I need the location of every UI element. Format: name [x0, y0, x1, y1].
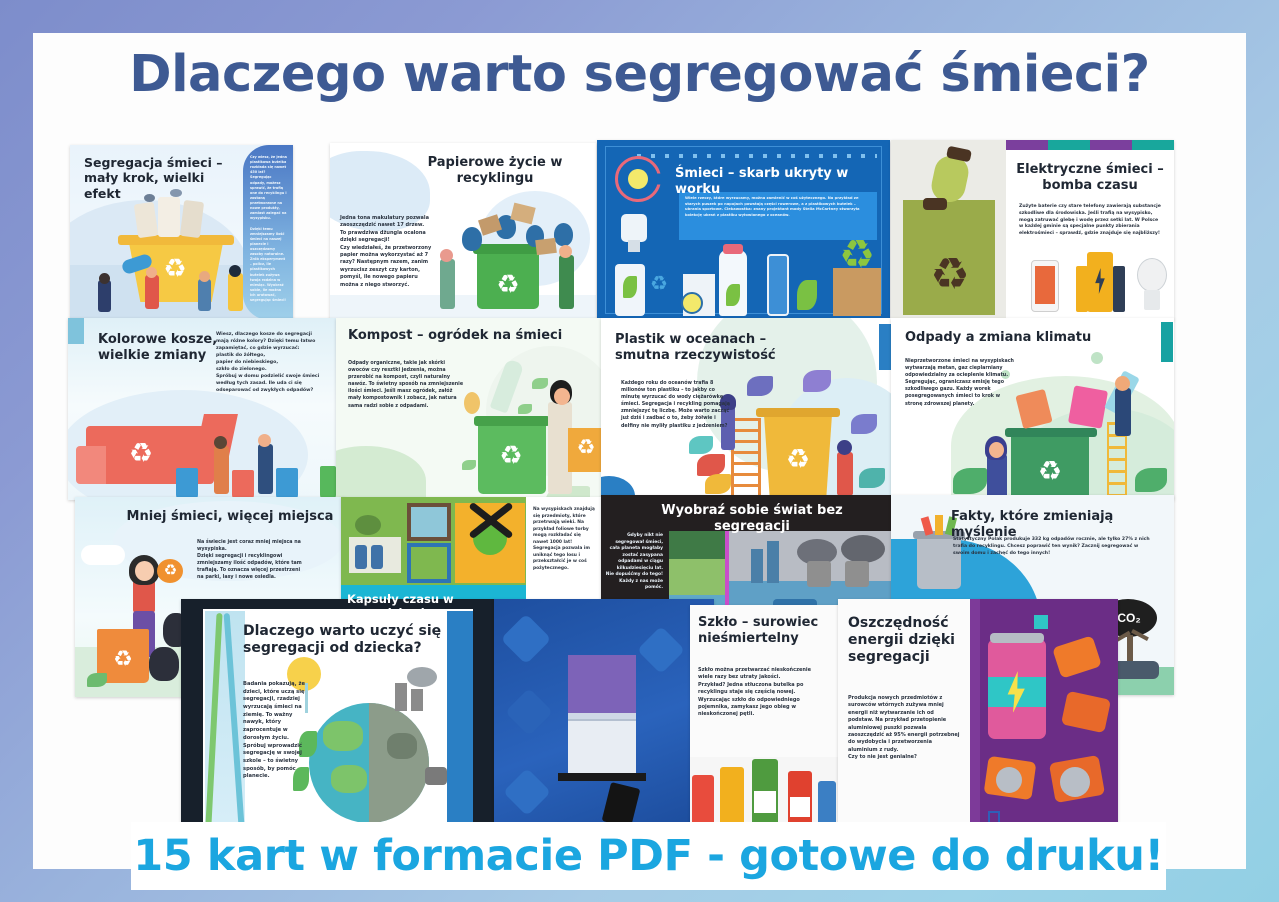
card-heading: Papierowe życie w recyklingu: [400, 155, 590, 187]
card-body: Produkcja nowych przedmiotów z surowców …: [848, 695, 960, 762]
card-heading: Segregacja śmieci – mały krok, wielki ef…: [84, 155, 234, 201]
recycle-icon: ♻: [161, 561, 180, 580]
can-top: [990, 633, 1044, 643]
card-illustration: [494, 599, 714, 837]
factory-stack: [751, 549, 763, 583]
recycle-icon: ♻: [491, 267, 525, 301]
glass-clear: [568, 719, 636, 773]
battery-icon: [767, 254, 789, 316]
lightbulb-icon: [621, 214, 647, 242]
side-accent: [1161, 322, 1173, 362]
card-heading: Dlaczego warto uczyć się segregacji od d…: [243, 623, 453, 657]
factory-stack: [767, 541, 779, 583]
card-body: Statystyczny Polak produkuje 332 kg odpa…: [953, 537, 1153, 557]
blue-bin: [176, 468, 198, 500]
card-glass-backdrop[interactable]: [494, 599, 714, 837]
photo-tile-inner: [411, 547, 447, 579]
recycle-icon: ♻: [109, 645, 137, 673]
corner-accent: [68, 318, 84, 344]
person-head: [99, 273, 110, 284]
poster-sheet: Dlaczego warto segregować śmieci? ♻: [33, 33, 1246, 869]
card-heading: Fakty, które zmieniają myślenie: [951, 509, 1171, 541]
factory-stack: [411, 689, 423, 711]
trash-bag: [149, 647, 179, 681]
card-body: Odpady organiczne, takie jak skórki owoc…: [348, 360, 464, 410]
bottle-icon: [719, 250, 747, 316]
card-body: Wiele rzeczy, które wyrzucamy, można zam…: [685, 196, 871, 219]
leaf-shape: [705, 474, 731, 494]
factory-tank: [371, 545, 383, 569]
card-body: Czy wiesz, że jedna plastikowa butelka r…: [250, 155, 287, 303]
cooling-tower: [845, 561, 869, 587]
color-strip: [1048, 140, 1090, 150]
card-segregacja-od-dziecka[interactable]: Dlaczego warto uczyć się segregacji od d…: [181, 599, 494, 837]
paper-roll: [158, 197, 180, 237]
bottle-label: [790, 797, 810, 817]
card-kompost[interactable]: ♻ ♻ Kompost – ogródek na śmieci Odpady o…: [336, 318, 601, 500]
green-bin: [320, 466, 336, 500]
side-accent: [879, 324, 891, 370]
person-head: [1115, 376, 1130, 391]
person-head: [440, 249, 453, 262]
glass-base: [558, 773, 646, 781]
apple-core-icon: [464, 392, 480, 414]
cards-collage: ♻ Segregacja śmieci – mały krok, wielki …: [33, 115, 1246, 869]
photo-tile-inner: [411, 507, 447, 537]
leaf-shape: [87, 673, 107, 687]
bulb-base: [923, 198, 947, 210]
leaf-shape: [689, 436, 713, 454]
card-oszczednosc-energii[interactable]: Oszczędność energii dzięki segregacji Pr…: [838, 599, 1118, 837]
factory-stack: [395, 683, 407, 711]
card-body: Szkło można przetwarzać nieskończenie wi…: [698, 667, 816, 719]
card-body: Na wysypiskach znajdują się przedmioty, …: [533, 507, 595, 572]
trash-bag: [462, 227, 482, 251]
bin-lid: [1005, 428, 1097, 437]
trash-item: [935, 515, 943, 535]
person-head: [554, 388, 570, 405]
card-plastik-w-oceanach[interactable]: ♻ Plastik w oceanach – smutna rzeczywist…: [601, 318, 891, 500]
smoke-cloud: [355, 515, 381, 535]
person-figure: [198, 279, 211, 311]
ladder: [731, 418, 761, 500]
panel-edge: [970, 599, 980, 837]
person-head: [258, 434, 271, 447]
card-heading: Śmieci – skarb ukryty w worku: [675, 166, 881, 198]
bottle-cap: [723, 244, 743, 254]
card-heading: Elektryczne śmieci – bomba czasu: [1015, 162, 1165, 194]
accent-square: [1034, 615, 1048, 629]
trash-bag: [554, 223, 573, 246]
page-title: Dlaczego warto segregować śmieci?: [129, 45, 1150, 104]
card-heading: Plastik w oceanach – smutna rzeczywistoś…: [615, 332, 805, 364]
person-head: [837, 440, 852, 455]
card-body: Badania pokazują, że dzieci, które uczą …: [243, 681, 309, 781]
person-head: [229, 265, 241, 277]
battery-icon: [1113, 266, 1125, 312]
recycle-icon: ♻: [158, 251, 192, 285]
factory-tank: [355, 545, 367, 569]
person-head: [989, 442, 1004, 458]
card-heading: Wyobraź sobie świat bez segregacji: [623, 503, 881, 535]
leaf-shape: [851, 414, 877, 434]
bulb-base: [628, 240, 640, 252]
card-szklo[interactable]: Szkło – surowiec nieśmiertelny Szkło moż…: [690, 605, 838, 837]
card-segregacja-maly-krok[interactable]: ♻ Segregacja śmieci – mały krok, wielki …: [70, 145, 293, 320]
banner-text: 15 kart w formacie PDF - gotowe do druku…: [133, 831, 1163, 881]
glass-crushed: [568, 655, 636, 713]
leaf-shape: [697, 454, 725, 476]
person-head: [214, 436, 227, 449]
leaf-shape: [747, 376, 773, 396]
leaf-icon: [726, 284, 740, 306]
card-body: Nieprzetworzone śmieci na wysypiskach wy…: [905, 358, 1017, 408]
recycle-icon: ♻: [494, 438, 528, 472]
person-head: [146, 267, 157, 278]
card-body: Gdyby nikt nie segregował śmieci, cała p…: [605, 533, 663, 592]
card-body: Na świecie jest coraz mniej miejsca na w…: [197, 539, 305, 582]
cooling-tower: [807, 561, 831, 587]
leaf-icon: [623, 276, 637, 298]
color-strip: [1132, 140, 1174, 150]
person-figure: [1115, 388, 1131, 436]
person-head: [135, 561, 154, 581]
recycle-icon: ♻: [124, 436, 158, 470]
truck-cab: [76, 446, 106, 484]
leaf-blob: [336, 446, 426, 500]
lightbulb-icon: [1137, 258, 1167, 292]
can-opening: [1060, 767, 1090, 797]
bottle-label: [754, 791, 776, 813]
phone-screen: [1035, 266, 1055, 304]
bubble: [1091, 352, 1103, 364]
recycle-icon: ♻: [923, 248, 977, 302]
card-heading: Kompost – ogródek na śmieci: [348, 328, 592, 344]
card-smieci-skarb[interactable]: ♻ ♻ Śmieci – skarb ukryty w worku Wiele …: [597, 140, 890, 320]
cardboard-piece: [535, 238, 557, 255]
leaf-shape: [859, 468, 885, 488]
poster-title-bar: Dlaczego warto segregować śmieci?: [33, 33, 1246, 115]
continent: [323, 721, 363, 751]
person-figure: [214, 446, 229, 494]
recycle-icon: ♻: [1033, 454, 1067, 488]
card-papierowe-zycie[interactable]: ♻ Papierowe życie w recyklingu Jedna ton…: [330, 143, 596, 320]
continent: [387, 733, 417, 759]
leaf-shape: [1135, 468, 1167, 492]
color-strip: [1090, 140, 1132, 150]
battery-icon: [1076, 266, 1088, 312]
card-body: Każdego roku do oceanów trafia 8 milionó…: [621, 380, 733, 430]
person-figure: [987, 454, 1007, 500]
recycle-icon: ♻: [781, 442, 815, 476]
ground-band: [330, 295, 596, 320]
card-odpady-a-klimat[interactable]: ♻ Odpady a zmiana klimatu Ni: [891, 318, 1174, 500]
card-body: Wiesz, dlaczego kosze do segregacji mają…: [216, 332, 324, 395]
red-bin: [232, 470, 254, 500]
person-figure: [98, 280, 111, 312]
bottom-banner: 15 kart w formacie PDF - gotowe do druku…: [131, 822, 1166, 890]
card-heading: Oszczędność energii dzięki segregacji: [848, 615, 966, 666]
dot-row: [637, 154, 877, 158]
card-elektryczne-smieci[interactable]: ♻ Elektryczne śmieci – bomba czasu Zużyt…: [891, 140, 1174, 320]
person-figure: [559, 255, 574, 309]
leaf-icon: [797, 280, 817, 310]
bin-lid: [474, 416, 550, 426]
blue-bin: [276, 468, 298, 500]
card-body: Zużyte baterie czy stare telefony zawier…: [1019, 204, 1161, 238]
smoke-cloud: [407, 667, 437, 687]
person-figure: [145, 275, 159, 309]
color-strip: [1006, 140, 1048, 150]
card-heading: Szkło – surowiec nieśmiertelny: [698, 615, 832, 647]
can-icon: [681, 292, 703, 314]
person-figure: [258, 444, 273, 494]
leaf-shape: [532, 378, 548, 389]
leaf-shape: [803, 370, 831, 392]
leaf-shape: [462, 460, 476, 470]
cloud-icon: [81, 545, 125, 565]
trash-bag: [1068, 385, 1108, 428]
card-heading: Mniej śmieci, więcej miejsca: [125, 509, 335, 525]
forest-strip: [669, 531, 727, 559]
car-icon: [425, 767, 447, 785]
person-figure: [440, 259, 455, 309]
recycle-icon: ♻: [647, 272, 671, 296]
leaf-shape: [518, 404, 532, 414]
continent: [331, 765, 367, 793]
bulb-base: [1144, 290, 1160, 310]
card-heading: Odpady a zmiana klimatu: [905, 330, 1145, 346]
card-heading: Kapsuły czasu w wysypiskach: [347, 592, 527, 617]
recycle-icon: ♻: [573, 434, 599, 460]
bin-rim: [756, 408, 840, 417]
person-head: [199, 271, 210, 282]
person-figure: [228, 273, 243, 311]
card-kolorowe-kosze[interactable]: ♻ Kolorowe kosze, wielkie zmiany Wiesz, …: [68, 318, 336, 500]
apple-icon: [628, 169, 648, 189]
can-opening: [996, 767, 1022, 793]
person-head: [559, 245, 572, 258]
leaf-shape: [953, 468, 987, 494]
card-body: Jedna tona makulatury pozwala zaoszczędz…: [340, 215, 432, 289]
person-figure: [837, 452, 853, 496]
smoke-cloud: [841, 535, 885, 563]
